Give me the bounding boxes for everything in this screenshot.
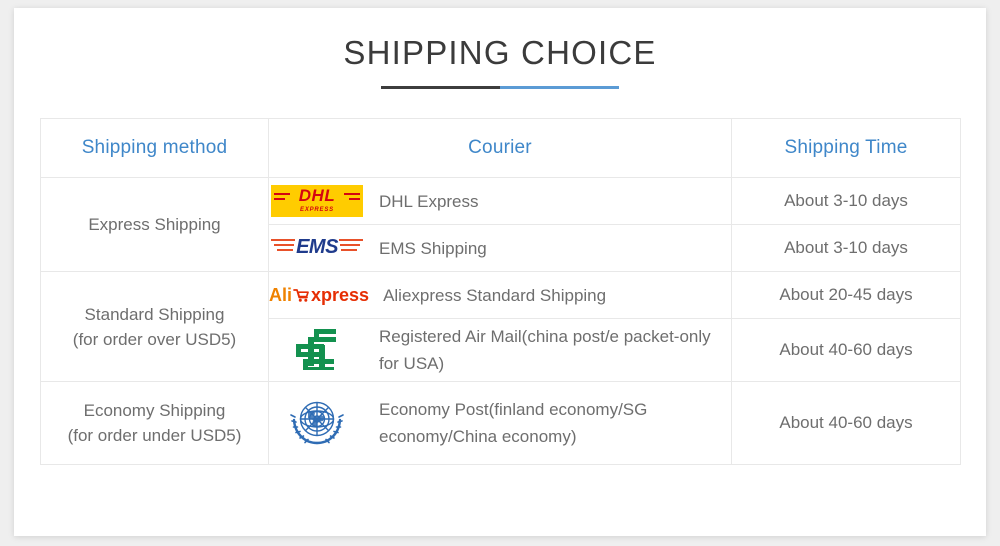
method-label: Express Shipping — [88, 215, 220, 234]
method-cell-standard: Standard Shipping (for order over USD5) — [41, 272, 269, 382]
courier-name: Aliexpress Standard Shipping — [383, 282, 606, 309]
title-underline-blue — [500, 86, 619, 89]
column-header-shipping-method: Shipping method — [41, 119, 269, 178]
title-block: SHIPPING CHOICE — [14, 32, 986, 89]
aliexpress-wordmark-xpress: xpress — [311, 285, 369, 305]
shipping-table: Shipping method Courier Shipping Time Ex… — [40, 118, 961, 465]
logo-slot — [269, 330, 365, 370]
method-label: Economy Shipping — [84, 401, 226, 420]
table-row: Economy Shipping (for order under USD5) — [41, 382, 961, 465]
shipping-time-cell: About 3-10 days — [732, 178, 961, 225]
shopping-cart-icon — [293, 287, 310, 303]
courier-name: Registered Air Mail(china post/e packet-… — [379, 323, 731, 377]
shipping-time-cell: About 3-10 days — [732, 225, 961, 272]
courier-cell-aliexpress: Ali xpress — [269, 272, 732, 319]
dhl-sublabel: EXPRESS — [271, 207, 363, 214]
courier-name: DHL Express — [379, 188, 479, 215]
courier-cell-ems: EMS EMS Shipping — [269, 225, 732, 272]
logo-slot: DHL EXPRESS — [269, 181, 365, 221]
shipping-time-cell: About 20-45 days — [732, 272, 961, 319]
aliexpress-logo: Ali xpress — [269, 285, 369, 305]
method-label: Standard Shipping — [85, 305, 225, 324]
courier-name: EMS Shipping — [379, 235, 487, 262]
courier-cell-dhl: DHL EXPRESS DHL Express — [269, 178, 732, 225]
ems-wordmark: EMS — [271, 236, 363, 258]
courier-name: Economy Post(finland economy/SG economy/… — [379, 396, 731, 450]
column-header-courier: Courier — [269, 119, 732, 178]
page-title: SHIPPING CHOICE — [14, 32, 986, 74]
table-row: Standard Shipping (for order over USD5) … — [41, 272, 961, 319]
title-underline — [381, 86, 619, 89]
method-cell-economy: Economy Shipping (for order under USD5) — [41, 382, 269, 465]
table-header-row: Shipping method Courier Shipping Time — [41, 119, 961, 178]
shipping-time-cell: About 40-60 days — [732, 382, 961, 465]
china-post-logo — [294, 326, 340, 375]
logo-slot: Ali xpress — [269, 275, 369, 315]
page-card: SHIPPING CHOICE Shipping method Courier … — [14, 8, 986, 536]
column-header-shipping-time: Shipping Time — [732, 119, 961, 178]
method-note: (for order over USD5) — [41, 327, 268, 352]
dhl-wordmark: DHL — [271, 187, 363, 205]
aliexpress-wordmark-ali: Ali — [269, 285, 292, 305]
shipping-time-cell: About 40-60 days — [732, 319, 961, 382]
courier-cell-china-post: Registered Air Mail(china post/e packet-… — [269, 319, 732, 382]
method-note: (for order under USD5) — [41, 423, 268, 448]
method-cell-express: Express Shipping — [41, 178, 269, 272]
ems-logo: EMS — [271, 233, 363, 263]
title-underline-dark — [381, 86, 500, 89]
logo-slot: EMS — [269, 228, 365, 268]
united-nations-logo — [288, 393, 346, 454]
logo-slot — [269, 403, 365, 443]
table-row: Express Shipping DHL EXPRESS DHL Expr — [41, 178, 961, 225]
dhl-logo: DHL EXPRESS — [271, 185, 363, 217]
courier-cell-economy-post: Economy Post(finland economy/SG economy/… — [269, 382, 732, 465]
